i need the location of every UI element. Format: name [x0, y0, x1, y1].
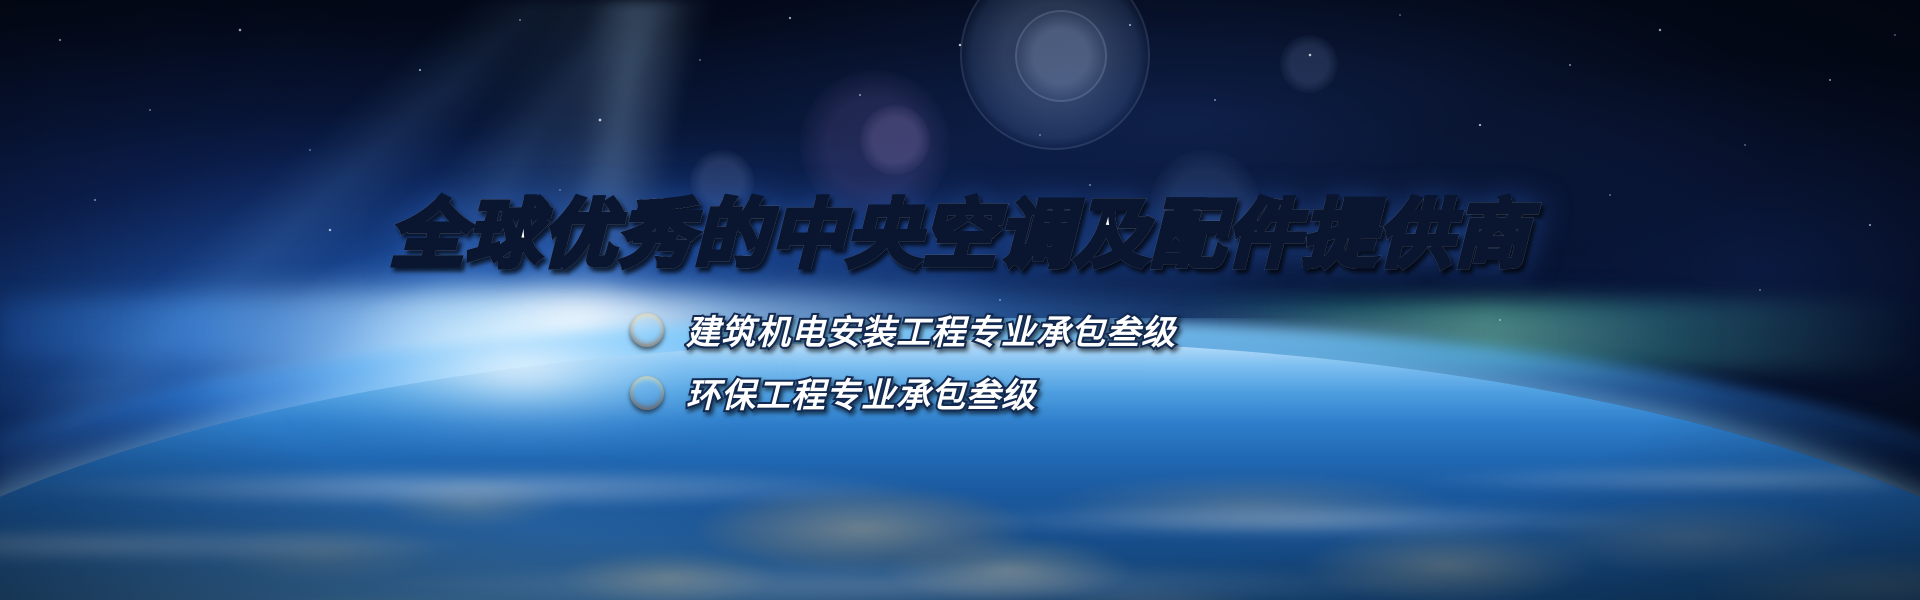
orange-dot-bullet-icon — [630, 376, 664, 410]
orange-dot-bullet-icon — [630, 313, 664, 347]
credential-list: 建筑机电安装工程专业承包叁级 环保工程专业承包叁级 — [0, 305, 1920, 417]
credential-label: 环保工程专业承包叁级 — [686, 368, 1036, 417]
hero-banner: 全球优秀的中央空调及配件提供商 建筑机电安装工程专业承包叁级 环保工程专业承包叁… — [0, 0, 1920, 600]
page-title: 全球优秀的中央空调及配件提供商 — [0, 198, 1920, 272]
list-item: 环保工程专业承包叁级 — [630, 368, 1290, 417]
list-item: 建筑机电安装工程专业承包叁级 — [630, 305, 1290, 354]
credential-label: 建筑机电安装工程专业承包叁级 — [686, 305, 1176, 354]
banner-content: 全球优秀的中央空调及配件提供商 建筑机电安装工程专业承包叁级 环保工程专业承包叁… — [0, 0, 1920, 600]
